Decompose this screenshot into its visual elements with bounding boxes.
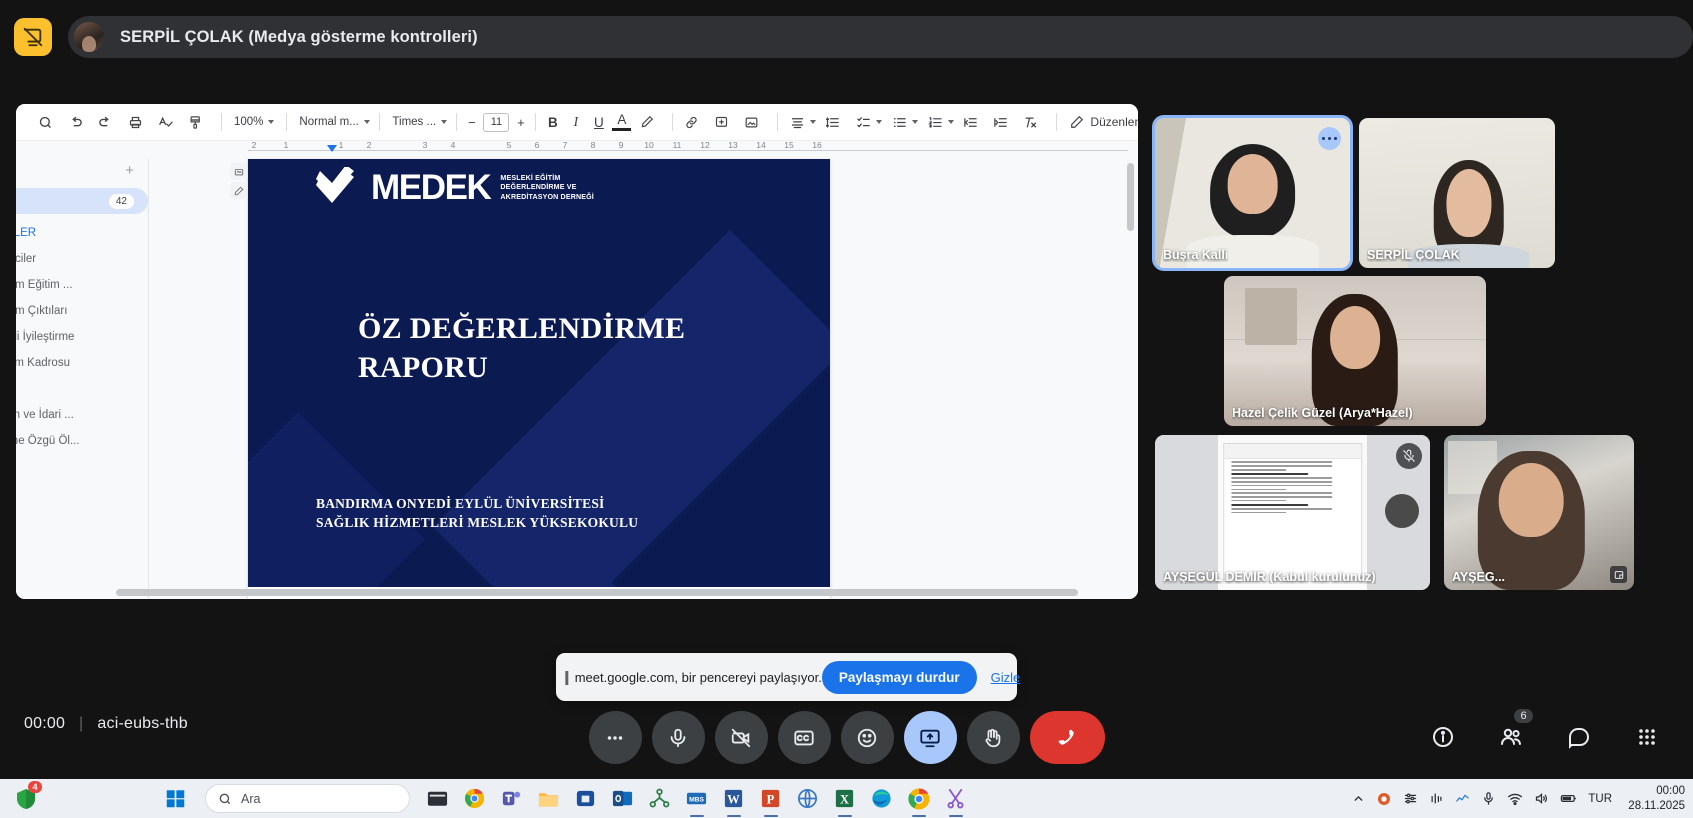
grid-apps-icon — [1635, 725, 1659, 749]
participant-tile-busra-kalli[interactable]: Büşra Kalli — [1155, 118, 1350, 268]
toolbar-divider — [456, 113, 457, 131]
people-button[interactable]: 6 — [1489, 715, 1533, 759]
increase-indent-icon[interactable] — [989, 111, 1012, 134]
chrome-icon — [463, 787, 486, 810]
thumb-toolbar — [1224, 444, 1362, 459]
chat-icon — [1567, 725, 1591, 749]
language-indicator[interactable]: TUR — [1588, 793, 1612, 805]
search-icon[interactable] — [34, 111, 57, 134]
store-icon — [574, 787, 597, 810]
search-icon — [218, 792, 232, 806]
pin-icon[interactable] — [1610, 566, 1627, 583]
windows-taskbar: 4 Ara — [0, 779, 1693, 818]
participant-tile-serpil-colak[interactable]: SERPİL ÇOLAK — [1359, 118, 1555, 268]
camera-button[interactable] — [715, 711, 768, 764]
presenter-name: SERPİL ÇOLAK (Medya gösterme kontrolleri… — [120, 28, 478, 47]
medek-logo: MEDEK MESLEKİ EĞİTİM DEĞERLENDİRME VE AK… — [316, 167, 594, 207]
toolbar-divider — [1056, 113, 1057, 131]
taskbar-system-tray: TUR 00:00 28.11.2025 — [1352, 784, 1685, 813]
search-placeholder: Ara — [241, 792, 260, 806]
spellcheck-icon[interactable] — [154, 111, 177, 134]
docs-horizontal-scrollbar[interactable] — [116, 589, 1078, 596]
equalizer-icon[interactable] — [1429, 791, 1444, 806]
font-dropdown[interactable]: Times ... — [387, 113, 449, 131]
chat-button[interactable] — [1557, 715, 1601, 759]
logo-subtitle-line-0: MESLEKİ EĞİTİM — [500, 174, 594, 183]
taskbar-app-chrome[interactable] — [459, 783, 490, 814]
taskbar-app-browser[interactable] — [792, 783, 823, 814]
ruler-label: 13 — [728, 141, 737, 150]
increase-font-size-button[interactable]: + — [513, 115, 528, 130]
medek-logo-subtitle: MESLEKİ EĞİTİM DEĞERLENDİRME VE AKREDİTA… — [500, 174, 594, 202]
captions-button[interactable] — [778, 711, 831, 764]
taskbar-clock[interactable]: 00:00 28.11.2025 — [1623, 784, 1685, 813]
ruler-label: 2 — [252, 141, 257, 150]
margin-tools[interactable] — [230, 163, 247, 201]
outlook-icon — [611, 787, 634, 810]
decrease-font-size-button[interactable]: − — [464, 115, 479, 130]
comment-icon[interactable] — [710, 111, 733, 134]
participant-name: SERPİL ÇOLAK — [1367, 248, 1460, 262]
docs-body: 2 1 1 2 3 4 5 6 7 8 9 10 11 12 13 14 15 … — [16, 141, 1138, 599]
svg-text:X: X — [840, 792, 849, 806]
slide-title-line-1: RAPORU — [358, 348, 778, 387]
video-feed — [1227, 154, 1278, 214]
battery-icon[interactable] — [1560, 790, 1577, 807]
chevron-down-icon — [948, 120, 954, 124]
slide-title: ÖZ DEĞERLENDİRME RAPORU — [358, 309, 778, 387]
folder-icon — [537, 787, 560, 810]
camera-off-icon — [730, 727, 752, 749]
hangup-icon — [1054, 725, 1080, 751]
shared-screen-stage[interactable]: 100% Normal m... Times ... − 11 + B — [16, 104, 1138, 599]
editing-mode-label: Düzenleme — [1090, 115, 1138, 129]
svg-text:MBS: MBS — [689, 796, 704, 803]
microphone-button[interactable] — [652, 711, 705, 764]
chevron-down-icon — [268, 120, 274, 124]
toolbar-divider — [221, 113, 222, 131]
logo-subtitle-line-1: DEĞERLENDİRME VE — [500, 183, 594, 192]
taskbar-search-input[interactable]: Ara — [205, 784, 410, 813]
chevron-up-icon[interactable] — [1352, 792, 1365, 805]
paint-format-icon[interactable] — [184, 111, 207, 134]
participant-tile-hazel-celik-guzel[interactable]: Hazel Çelik Güzel (Arya*Hazel) — [1224, 276, 1486, 426]
toolbar-divider — [777, 113, 778, 131]
italic-button[interactable]: I — [566, 114, 585, 130]
tile-muted-indicator — [1396, 443, 1422, 469]
slide-footer-line-0: BANDIRMA ONYEDİ EYLÜL ÜNİVERSİTESİ — [316, 495, 638, 514]
link-icon[interactable] — [680, 111, 703, 134]
decrease-indent-icon[interactable] — [959, 111, 982, 134]
docs-ruler[interactable]: 2 1 1 2 3 4 5 6 7 8 9 10 11 12 13 14 15 … — [248, 141, 1138, 157]
chevron-down-icon — [441, 120, 447, 124]
taskbar-apps-group: Ara MBS — [160, 783, 971, 814]
taskbar-app-network[interactable] — [644, 783, 675, 814]
ruler-label: 7 — [563, 141, 568, 150]
ruler-label: 4 — [451, 141, 456, 150]
medek-checkmark-icon — [316, 167, 364, 207]
font-size-input[interactable]: 11 — [483, 113, 509, 132]
shared-document-thumbnail — [1224, 444, 1362, 580]
presenter-top-bar: SERPİL ÇOLAK (Medya gösterme kontrolleri… — [0, 0, 1693, 74]
info-icon — [1431, 725, 1455, 749]
chevron-down-icon — [364, 120, 370, 124]
text-color-button[interactable]: A — [612, 113, 631, 130]
hand-icon — [982, 727, 1004, 749]
outline-selected-item[interactable]: 42 — [16, 188, 148, 214]
windows-start-button[interactable] — [160, 783, 191, 814]
windows-start-icon — [165, 788, 186, 809]
sharing-message: meet.google.com, bir pencereyi paylaşıyo… — [575, 670, 822, 685]
graph-icon[interactable] — [1455, 791, 1470, 806]
paragraph-style-dropdown[interactable]: Normal m... — [294, 113, 372, 131]
taskbar-app-teams[interactable] — [496, 783, 527, 814]
edit-image-margin-icon[interactable] — [230, 182, 247, 199]
meeting-details-button[interactable] — [1421, 715, 1465, 759]
present-icon — [919, 727, 941, 749]
captions-icon — [793, 727, 815, 749]
svg-text:W: W — [727, 792, 740, 806]
outline-item-6[interactable]: tyapı — [16, 376, 148, 402]
outline-item-3[interactable]: ogram Çıktıları — [16, 298, 148, 324]
bold-button[interactable]: B — [543, 115, 562, 130]
video-feed — [1330, 306, 1380, 369]
font-value: Times ... — [392, 116, 436, 128]
ruler-label: 2 — [367, 141, 372, 150]
network-icon — [648, 787, 671, 810]
zoom-value: 100% — [234, 116, 263, 128]
outline-item-8[interactable]: sipline Özgü Öl... — [16, 428, 148, 454]
volume-icon[interactable] — [1534, 791, 1549, 806]
call-controls — [589, 711, 1105, 764]
highlight-pen-icon[interactable] — [635, 111, 658, 134]
mic-icon — [667, 727, 689, 749]
mic-icon[interactable] — [1481, 791, 1496, 806]
print-icon[interactable] — [124, 111, 147, 134]
excel-icon: X — [833, 787, 856, 810]
chrome-active-icon — [907, 787, 931, 811]
activities-button[interactable] — [1625, 715, 1669, 759]
toolbar-divider — [672, 113, 673, 131]
file-explorer-dark-icon — [426, 787, 449, 810]
ruler-track — [248, 150, 1128, 151]
font-size-stepper[interactable]: − 11 + — [464, 113, 528, 132]
participant-name: Büşra Kalli — [1163, 248, 1228, 262]
underline-button[interactable]: U — [589, 115, 608, 130]
svg-text:P: P — [767, 792, 775, 806]
numbered-list-icon — [928, 115, 943, 130]
paragraph-style-value: Normal m... — [299, 116, 358, 128]
people-icon — [1499, 725, 1523, 749]
stop-presenting-icon — [22, 26, 44, 48]
participant-name: AYŞEGÜL DEMİR (Kabul kurulunuz) — [1163, 570, 1376, 584]
video-feed — [1499, 463, 1564, 537]
document-page[interactable]: MEDEK MESLEKİ EĞİTİM DEĞERLENDİRME VE AK… — [248, 159, 830, 599]
toolbar-divider — [379, 113, 380, 131]
browser-icon — [796, 787, 819, 810]
ruler-label: 9 — [619, 141, 624, 150]
outline-item-2[interactable]: ogram Eğitim ... — [16, 272, 148, 298]
medek-logo-text: MEDEK — [371, 170, 490, 205]
pencil-icon — [1070, 115, 1084, 129]
logo-subtitle-line-2: AKREDİTASYON DERNEĞİ — [500, 193, 594, 202]
stop-presenting-button[interactable] — [14, 18, 52, 56]
video-feed — [1446, 169, 1491, 237]
docs-toolbar: 100% Normal m... Times ... − 11 + B — [16, 104, 1138, 141]
presentation-slide: MEDEK MESLEKİ EĞİTİM DEĞERLENDİRME VE AK… — [248, 159, 830, 587]
zoom-dropdown[interactable]: 100% — [229, 113, 279, 131]
taskbar-app-edge[interactable] — [866, 783, 897, 814]
snip-tool-icon — [944, 787, 967, 810]
clock-time: 00:00 — [1623, 784, 1685, 798]
editing-mode-dropdown[interactable]: Düzenleme — [1064, 111, 1138, 133]
ruler-label: 8 — [591, 141, 596, 150]
participant-tiles: Büşra Kalli SERPİL ÇOLAK Hazel Çelik Güz… — [1155, 118, 1677, 598]
line-spacing-icon[interactable] — [821, 111, 844, 134]
thumb-avatar — [1385, 494, 1419, 528]
elapsed-time: 00:00 — [24, 715, 65, 733]
outline-item-0[interactable]: İLGİLER — [16, 220, 148, 246]
ruler-label: 11 — [673, 141, 682, 150]
taskbar-app-powerpoint[interactable]: P — [755, 783, 786, 814]
outline-header: eleri + — [16, 159, 148, 182]
taskbar-app-mbs[interactable]: MBS — [681, 783, 712, 814]
taskbar-app-file-explorer-dark[interactable] — [422, 783, 453, 814]
clock-date: 28.11.2025 — [1623, 799, 1685, 813]
notification-badge: 4 — [28, 781, 42, 793]
docs-vertical-scrollbar[interactable] — [1127, 163, 1134, 231]
outline-item-7[interactable]: netim ve İdari ... — [16, 402, 148, 428]
ruler-label: 5 — [507, 141, 512, 150]
meet-right-controls: 6 — [1421, 715, 1669, 759]
taskbar-app-snip-tool[interactable] — [940, 783, 971, 814]
taskbar-notification-app[interactable]: 4 — [10, 783, 41, 814]
video-feed — [1155, 435, 1218, 590]
participant-count-badge: 6 — [1514, 709, 1533, 723]
outline-item-4[interactable]: ürekli İyileştirme — [16, 324, 148, 350]
participant-name: Hazel Çelik Güzel (Arya*Hazel) — [1232, 406, 1413, 420]
tile-more-options-button[interactable] — [1318, 127, 1341, 150]
bulleted-list-dropdown[interactable] — [887, 112, 923, 133]
ruler-label: 1 — [339, 141, 344, 150]
toolbar-divider — [535, 113, 536, 131]
word-icon: W — [722, 787, 745, 810]
participant-tile-aysegul-demir[interactable]: AYŞEGÜL DEMİR (Kabul kurulunuz) — [1155, 435, 1430, 590]
document-outline-pane[interactable]: eleri + 42 İLGİLER ğrenciler ogram Eğiti… — [16, 159, 148, 599]
mic-off-icon — [1402, 449, 1416, 463]
mbs-icon: MBS — [685, 787, 708, 810]
ellipsis-icon — [604, 727, 626, 749]
edge-icon — [870, 787, 893, 810]
teams-icon — [500, 787, 523, 810]
insert-image-margin-icon[interactable] — [230, 163, 247, 180]
powerpoint-icon: P — [759, 787, 782, 810]
taskbar-app-folder[interactable] — [533, 783, 564, 814]
ruler-label: 3 — [423, 141, 428, 150]
antivirus-icon[interactable] — [1376, 791, 1392, 807]
taskbar-left-group: 4 — [10, 783, 41, 814]
meeting-info-group: 00:00 | aci-eubs-thb — [24, 715, 188, 733]
clear-formatting-icon[interactable] — [1019, 111, 1042, 134]
stop-sharing-button[interactable]: Paylaşmayı durdur — [822, 661, 977, 694]
chevron-down-icon — [876, 120, 882, 124]
leave-call-button[interactable] — [1030, 711, 1105, 764]
taskbar-app-store[interactable] — [570, 783, 601, 814]
image-icon[interactable] — [740, 111, 763, 134]
ruler-label: 14 — [756, 141, 765, 150]
google-meet-window: SERPİL ÇOLAK (Medya gösterme kontrolleri… — [0, 0, 1693, 779]
ruler-label: 12 — [700, 141, 709, 150]
outline-item-5[interactable]: ğretim Kadrosu — [16, 350, 148, 376]
presenter-avatar — [74, 22, 104, 52]
participant-tile-aysegul-2[interactable]: AYŞEG... — [1444, 435, 1634, 590]
ruler-label: 6 — [535, 141, 540, 150]
screen-sharing-banner[interactable]: ||| meet.google.com, bir pencereyi payla… — [556, 653, 1017, 701]
align-dropdown[interactable] — [785, 112, 821, 133]
chevron-down-icon — [912, 120, 918, 124]
taskbar-app-outlook[interactable] — [607, 783, 638, 814]
taskbar-app-excel[interactable]: X — [829, 783, 860, 814]
plus-icon[interactable]: + — [125, 163, 134, 178]
separator: | — [79, 715, 83, 733]
checklist-icon — [856, 115, 871, 130]
slide-title-line-0: ÖZ DEĞERLENDİRME — [358, 309, 778, 348]
outline-item-1[interactable]: ğrenciler — [16, 246, 148, 272]
settings-sliders-icon[interactable] — [1403, 791, 1418, 806]
checklist-dropdown[interactable] — [851, 112, 887, 133]
emoji-icon — [856, 727, 878, 749]
taskbar-app-chrome-active[interactable] — [903, 783, 934, 814]
ruler-label: 15 — [784, 141, 793, 150]
hide-banner-link[interactable]: Gizle — [991, 670, 1021, 685]
present-now-button[interactable] — [904, 711, 957, 764]
slide-footer-line-1: SAĞLIK HİZMETLERİ MESLEK YÜKSEKOKULU — [316, 514, 638, 533]
undo-icon[interactable] — [64, 111, 87, 134]
ruler-label: 1 — [284, 141, 289, 150]
drag-handle-icon[interactable]: ||| — [564, 669, 567, 686]
redo-icon[interactable] — [94, 111, 117, 134]
slide-footer: BANDIRMA ONYEDİ EYLÜL ÜNİVERSİTESİ SAĞLI… — [316, 495, 638, 532]
ruler-label: 10 — [644, 141, 653, 150]
outline-divider — [148, 159, 149, 599]
chevron-down-icon — [810, 120, 816, 124]
outline-badge: 42 — [109, 194, 134, 209]
wifi-icon[interactable] — [1507, 791, 1523, 807]
raise-hand-button[interactable] — [967, 711, 1020, 764]
presenter-chip[interactable]: SERPİL ÇOLAK (Medya gösterme kontrolleri… — [68, 16, 1693, 58]
more-options-button[interactable] — [589, 711, 642, 764]
participant-name: AYŞEG... — [1452, 570, 1505, 584]
toolbar-divider — [286, 113, 287, 131]
align-icon — [790, 115, 805, 130]
taskbar-app-word[interactable]: W — [718, 783, 749, 814]
numbered-list-dropdown[interactable] — [923, 112, 959, 133]
indent-marker[interactable] — [327, 145, 337, 152]
bulleted-list-icon — [892, 115, 907, 130]
emoji-button[interactable] — [841, 711, 894, 764]
meeting-code: aci-eubs-thb — [97, 715, 187, 733]
video-feed — [1245, 288, 1297, 345]
ruler-label: 16 — [812, 141, 821, 150]
